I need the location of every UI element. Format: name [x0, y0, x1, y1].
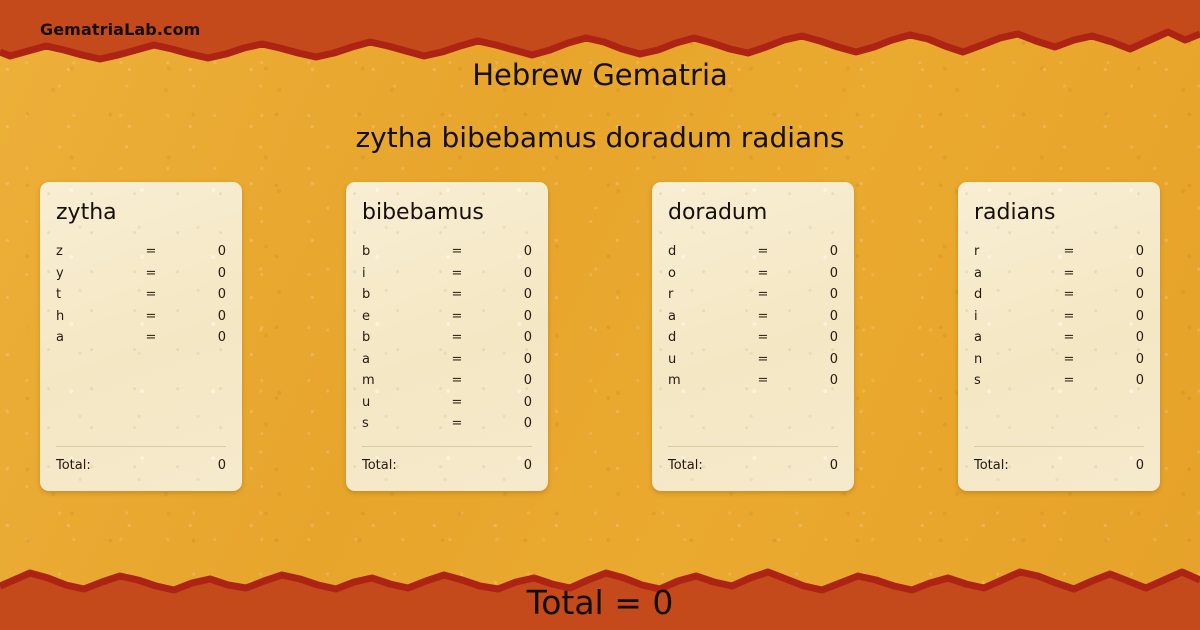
equals-sign: =	[1048, 352, 1090, 367]
page-title: Hebrew Gematria	[0, 58, 1200, 92]
card-total-value: 0	[1136, 458, 1144, 473]
letter-row: b = 0	[362, 330, 532, 352]
letter-value: 0	[784, 287, 838, 302]
card-total-label: Total:	[974, 458, 1009, 473]
card-total: Total: 0	[56, 458, 226, 491]
word-card: doradum d = 0 o = 0 r = 0 a	[652, 182, 854, 491]
equals-sign: =	[1048, 373, 1090, 388]
word-card-title: zytha	[56, 202, 226, 224]
equals-sign: =	[436, 352, 478, 367]
card-divider	[668, 446, 838, 447]
letter: z	[56, 244, 130, 259]
letter-value-rows: z = 0 y = 0 t = 0 h = 0	[56, 244, 226, 446]
card-total: Total: 0	[668, 458, 838, 491]
card-total: Total: 0	[974, 458, 1144, 491]
gematria-card-image: GematriaLab.com Hebrew Gematria zytha bi…	[0, 0, 1200, 630]
letter: a	[974, 330, 1048, 345]
letter-row: d = 0	[668, 330, 838, 352]
letter-value: 0	[478, 287, 532, 302]
letter-value-rows: d = 0 o = 0 r = 0 a = 0	[668, 244, 838, 446]
letter-row: z = 0	[56, 244, 226, 266]
letter: r	[668, 287, 742, 302]
card-total-label: Total:	[668, 458, 703, 473]
letter-row: a = 0	[974, 266, 1144, 288]
equals-sign: =	[1048, 330, 1090, 345]
letter-value: 0	[784, 373, 838, 388]
word-card-title: doradum	[668, 202, 838, 224]
word-card-title: radians	[974, 202, 1144, 224]
letter-value: 0	[172, 287, 226, 302]
card-total: Total: 0	[362, 458, 532, 491]
card-divider	[974, 446, 1144, 447]
letter: b	[362, 330, 436, 345]
letter-row: y = 0	[56, 266, 226, 288]
letter-row: d = 0	[974, 287, 1144, 309]
equals-sign: =	[1048, 309, 1090, 324]
word-card: radians r = 0 a = 0 d = 0 i	[958, 182, 1160, 491]
letter-value: 0	[1090, 330, 1144, 345]
letter-row: d = 0	[668, 244, 838, 266]
equals-sign: =	[1048, 244, 1090, 259]
letter-row: r = 0	[974, 244, 1144, 266]
letter-row: o = 0	[668, 266, 838, 288]
letter: m	[362, 373, 436, 388]
letter-value: 0	[1090, 309, 1144, 324]
letter-row: t = 0	[56, 287, 226, 309]
word-card: bibebamus b = 0 i = 0 b = 0 e	[346, 182, 548, 491]
word-card: zytha z = 0 y = 0 t = 0 h	[40, 182, 242, 491]
letter: i	[974, 309, 1048, 324]
letter-value: 0	[1090, 266, 1144, 281]
letter-row: i = 0	[974, 309, 1144, 331]
letter: b	[362, 244, 436, 259]
equals-sign: =	[742, 287, 784, 302]
letter: u	[362, 395, 436, 410]
letter-value: 0	[784, 244, 838, 259]
equals-sign: =	[742, 352, 784, 367]
site-logo[interactable]: GematriaLab.com	[40, 20, 200, 39]
letter: s	[362, 416, 436, 431]
letter-row: i = 0	[362, 266, 532, 288]
equals-sign: =	[1048, 287, 1090, 302]
letter-value: 0	[478, 395, 532, 410]
letter: n	[974, 352, 1048, 367]
card-divider	[362, 446, 532, 447]
letter-row: b = 0	[362, 287, 532, 309]
letter-row: h = 0	[56, 309, 226, 331]
grand-total: Total = 0	[0, 583, 1200, 622]
letter-value: 0	[784, 309, 838, 324]
letter: m	[668, 373, 742, 388]
letter: a	[56, 330, 130, 345]
letter-row: u = 0	[362, 395, 532, 417]
equals-sign: =	[436, 309, 478, 324]
letter: b	[362, 287, 436, 302]
letter-value: 0	[1090, 373, 1144, 388]
equals-sign: =	[436, 266, 478, 281]
word-card-list: zytha z = 0 y = 0 t = 0 h	[40, 182, 1160, 491]
equals-sign: =	[130, 287, 172, 302]
card-divider	[56, 446, 226, 447]
letter-value: 0	[172, 244, 226, 259]
equals-sign: =	[436, 416, 478, 431]
letter: e	[362, 309, 436, 324]
equals-sign: =	[436, 244, 478, 259]
letter: d	[668, 330, 742, 345]
card-total-value: 0	[524, 458, 532, 473]
word-card-title: bibebamus	[362, 202, 532, 224]
equals-sign: =	[742, 244, 784, 259]
letter-value: 0	[478, 352, 532, 367]
equals-sign: =	[436, 395, 478, 410]
letter-row: s = 0	[362, 416, 532, 438]
letter-row: a = 0	[668, 309, 838, 331]
letter: a	[362, 352, 436, 367]
letter-row: n = 0	[974, 352, 1144, 374]
letter-value: 0	[478, 244, 532, 259]
equals-sign: =	[436, 373, 478, 388]
letter-value: 0	[784, 330, 838, 345]
letter-row: a = 0	[362, 352, 532, 374]
letter-value-rows: r = 0 a = 0 d = 0 i = 0	[974, 244, 1144, 446]
card-total-value: 0	[830, 458, 838, 473]
letter-row: r = 0	[668, 287, 838, 309]
card-total-value: 0	[218, 458, 226, 473]
letter: s	[974, 373, 1048, 388]
letter: a	[668, 309, 742, 324]
equals-sign: =	[130, 309, 172, 324]
letter-value: 0	[172, 330, 226, 345]
letter-row: a = 0	[56, 330, 226, 352]
equals-sign: =	[742, 330, 784, 345]
card-total-label: Total:	[56, 458, 91, 473]
letter: y	[56, 266, 130, 281]
letter-value: 0	[1090, 244, 1144, 259]
letter-row: e = 0	[362, 309, 532, 331]
letter: t	[56, 287, 130, 302]
letter-row: u = 0	[668, 352, 838, 374]
card-total-label: Total:	[362, 458, 397, 473]
letter-value: 0	[172, 266, 226, 281]
equals-sign: =	[130, 244, 172, 259]
letter-value-rows: b = 0 i = 0 b = 0 e = 0	[362, 244, 532, 446]
equals-sign: =	[1048, 266, 1090, 281]
letter: d	[668, 244, 742, 259]
letter: h	[56, 309, 130, 324]
phrase-subtitle: zytha bibebamus doradum radians	[0, 121, 1200, 154]
letter-value: 0	[478, 266, 532, 281]
letter-value: 0	[478, 309, 532, 324]
letter: r	[974, 244, 1048, 259]
letter-row: b = 0	[362, 244, 532, 266]
letter-value: 0	[784, 266, 838, 281]
equals-sign: =	[742, 309, 784, 324]
letter: u	[668, 352, 742, 367]
letter: d	[974, 287, 1048, 302]
letter-row: a = 0	[974, 330, 1144, 352]
equals-sign: =	[436, 330, 478, 345]
letter-row: m = 0	[668, 373, 838, 395]
letter-value: 0	[172, 309, 226, 324]
letter-row: m = 0	[362, 373, 532, 395]
letter-value: 0	[478, 373, 532, 388]
equals-sign: =	[742, 266, 784, 281]
equals-sign: =	[436, 287, 478, 302]
letter-row: s = 0	[974, 373, 1144, 395]
letter-value: 0	[478, 416, 532, 431]
equals-sign: =	[130, 330, 172, 345]
letter-value: 0	[478, 330, 532, 345]
letter-value: 0	[1090, 287, 1144, 302]
equals-sign: =	[742, 373, 784, 388]
equals-sign: =	[130, 266, 172, 281]
letter: o	[668, 266, 742, 281]
letter-value: 0	[784, 352, 838, 367]
letter: a	[974, 266, 1048, 281]
letter-value: 0	[1090, 352, 1144, 367]
letter: i	[362, 266, 436, 281]
